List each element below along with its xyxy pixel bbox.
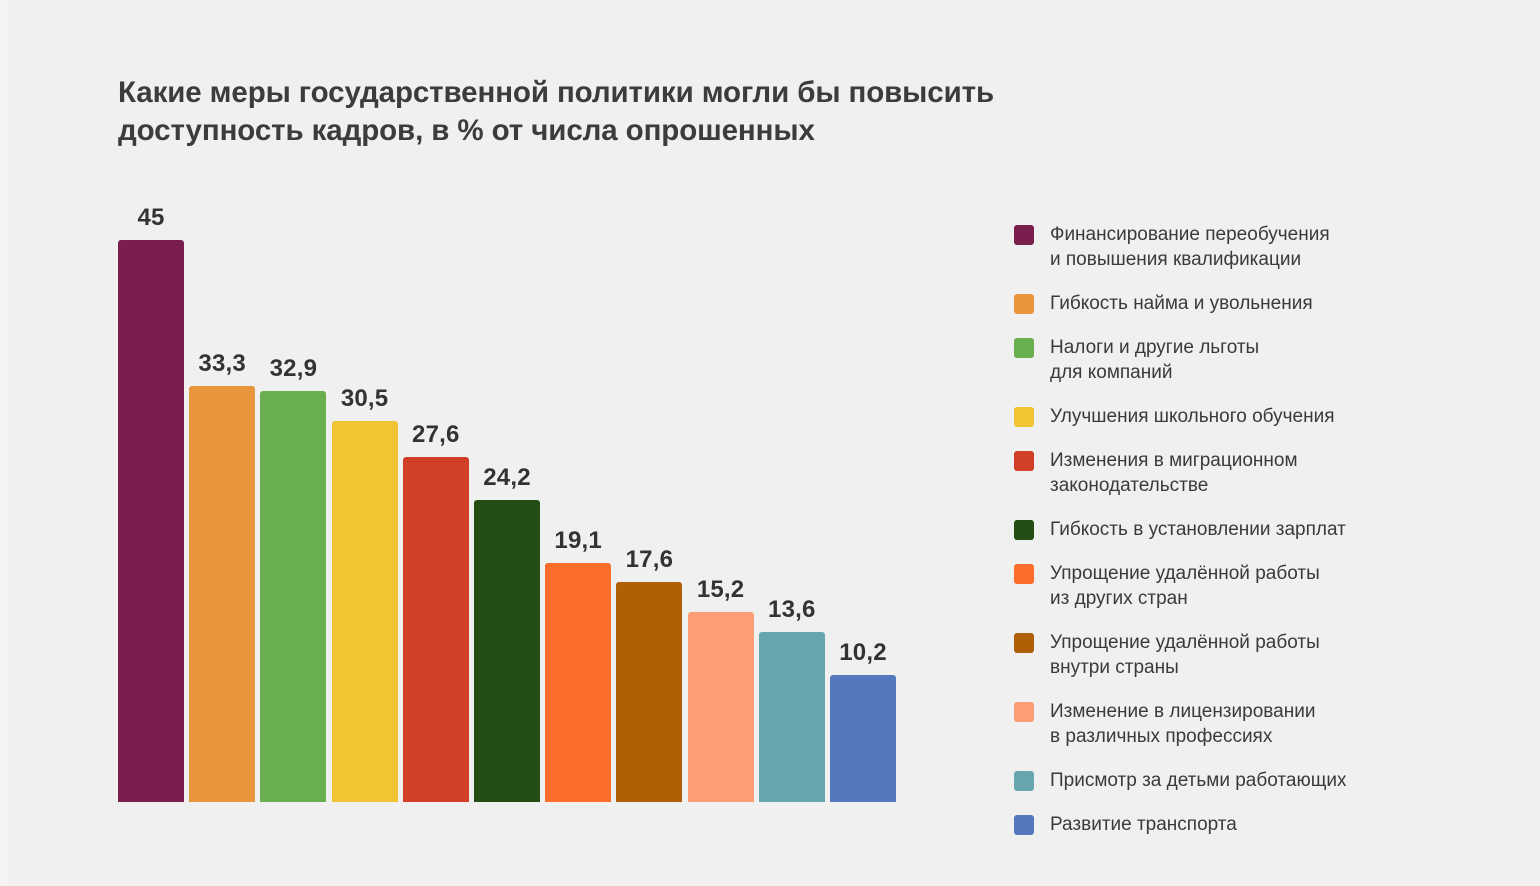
plot-area: 4533,332,930,527,624,219,117,615,213,610… <box>118 190 908 802</box>
legend-item-label: Налоги и другие льготы для компаний <box>1050 335 1259 385</box>
legend-item[interactable]: Гибкость в установлении зарплат <box>1014 517 1444 542</box>
chart-legend: Финансирование переобучения и повышения … <box>1014 222 1444 856</box>
legend-swatch-icon <box>1014 633 1034 653</box>
bar-chart: Какие меры государственной политики могл… <box>0 0 1540 886</box>
legend-swatch-icon <box>1014 294 1034 314</box>
legend-item[interactable]: Упрощение удалённой работы внутри страны <box>1014 630 1444 680</box>
bar-value-label: 27,6 <box>394 421 478 449</box>
bar[interactable] <box>759 632 825 802</box>
legend-item-label: Финансирование переобучения и повышения … <box>1050 222 1330 272</box>
legend-swatch-icon <box>1014 225 1034 245</box>
bar[interactable] <box>474 500 540 802</box>
bar[interactable] <box>260 391 326 802</box>
bar[interactable] <box>118 240 184 802</box>
legend-item-label: Гибкость найма и увольнения <box>1050 291 1313 316</box>
bar[interactable] <box>403 457 469 802</box>
legend-swatch-icon <box>1014 702 1034 722</box>
legend-item[interactable]: Присмотр за детьми работающих <box>1014 768 1444 793</box>
legend-swatch-icon <box>1014 407 1034 427</box>
legend-swatch-icon <box>1014 520 1034 540</box>
bar[interactable] <box>545 563 611 802</box>
bar-value-label: 32,9 <box>251 355 335 383</box>
legend-swatch-icon <box>1014 564 1034 584</box>
bar[interactable] <box>332 421 398 802</box>
legend-item-label: Изменение в лицензировании в различных п… <box>1050 699 1315 749</box>
chart-title: Какие меры государственной политики могл… <box>118 74 1218 150</box>
bar-value-label: 30,5 <box>323 385 407 413</box>
legend-item[interactable]: Упрощение удалённой работы из других стр… <box>1014 561 1444 611</box>
legend-item[interactable]: Изменение в лицензировании в различных п… <box>1014 699 1444 749</box>
bar-value-label: 17,6 <box>607 546 691 574</box>
bar-value-label: 13,6 <box>750 596 834 624</box>
legend-swatch-icon <box>1014 815 1034 835</box>
legend-swatch-icon <box>1014 338 1034 358</box>
legend-item-label: Развитие транспорта <box>1050 812 1237 837</box>
legend-item[interactable]: Налоги и другие льготы для компаний <box>1014 335 1444 385</box>
legend-swatch-icon <box>1014 451 1034 471</box>
legend-item[interactable]: Развитие транспорта <box>1014 812 1444 837</box>
legend-item-label: Упрощение удалённой работы внутри страны <box>1050 630 1320 680</box>
legend-item-label: Присмотр за детьми работающих <box>1050 768 1346 793</box>
legend-swatch-icon <box>1014 771 1034 791</box>
legend-item[interactable]: Финансирование переобучения и повышения … <box>1014 222 1444 272</box>
bar-value-label: 45 <box>109 204 193 232</box>
bar[interactable] <box>616 582 682 802</box>
legend-item[interactable]: Улучшения школьного обучения <box>1014 404 1444 429</box>
bar[interactable] <box>189 386 255 802</box>
legend-item-label: Изменения в миграционном законодательств… <box>1050 448 1298 498</box>
legend-item-label: Улучшения школьного обучения <box>1050 404 1334 429</box>
legend-item-label: Гибкость в установлении зарплат <box>1050 517 1346 542</box>
bar[interactable] <box>830 675 896 802</box>
legend-item[interactable]: Гибкость найма и увольнения <box>1014 291 1444 316</box>
bar[interactable] <box>688 612 754 802</box>
bar-value-label: 24,2 <box>465 464 549 492</box>
bar-value-label: 10,2 <box>821 639 905 667</box>
legend-item-label: Упрощение удалённой работы из других стр… <box>1050 561 1320 611</box>
legend-item[interactable]: Изменения в миграционном законодательств… <box>1014 448 1444 498</box>
